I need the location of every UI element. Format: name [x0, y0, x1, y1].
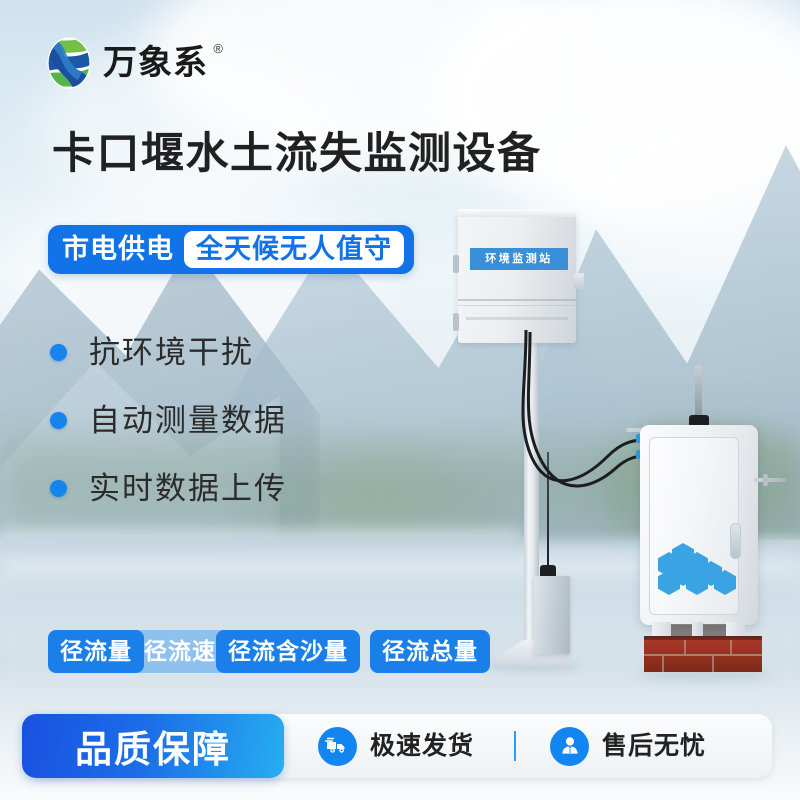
list-item: 抗环境干扰: [50, 318, 287, 386]
station-seam: [458, 305, 576, 306]
service-label: 售后无忧: [602, 734, 706, 759]
delivery-truck-icon: [318, 727, 357, 766]
feature-label: 自动测量数据: [89, 405, 287, 436]
brick-base: [644, 640, 762, 672]
globe-swirl-icon: [44, 36, 94, 90]
page-title: 卡口堰水土流失监测设备: [52, 133, 542, 176]
brand-logo[interactable]: 万象系 ®: [44, 36, 208, 90]
station-name-plate: 环境监测站: [470, 248, 568, 270]
keyword-tag: 径流量: [48, 630, 144, 673]
keyword-tag-group: 径流量 径流速 径流含沙量 径流总量: [48, 630, 490, 673]
station-louver: [466, 317, 568, 320]
feature-list: 抗环境干扰 自动测量数据 实时数据上传: [50, 318, 287, 522]
station-seam: [458, 299, 576, 301]
station-bracket: [453, 313, 459, 331]
customer-support-icon: [550, 727, 589, 766]
control-cabinet: [640, 425, 758, 625]
keyword-tag: 径流总量: [370, 630, 490, 673]
trust-bar: 品质保障 极速发货: [28, 714, 772, 778]
station-body: [458, 213, 576, 343]
station-name-text: 环境监测站: [485, 254, 553, 265]
station-top-cap: [458, 209, 576, 217]
bullet-dot-icon: [50, 480, 67, 497]
keyword-tag-behind: 径流速: [132, 630, 228, 673]
feature-label: 抗环境干扰: [89, 337, 254, 368]
cabinet-antenna-rod: [695, 365, 702, 419]
quality-guarantee-badge: 品质保障: [22, 714, 284, 778]
brand-name: 万象系 ®: [103, 46, 208, 80]
hexagon-decal: [658, 543, 730, 585]
list-item: 实时数据上传: [50, 454, 287, 522]
cabinet-side-arm-tip: [763, 474, 768, 486]
badge-secondary-label: 全天候无人值守: [184, 231, 404, 268]
bullet-dot-icon: [50, 412, 67, 429]
bullet-dot-icon: [50, 344, 67, 361]
vertical-divider: [514, 731, 516, 761]
cabinet-side-arm: [754, 478, 786, 482]
service-after-sales: 售后无忧: [550, 727, 706, 766]
cabinet-door-handle: [730, 523, 741, 559]
keyword-tag: 径流含沙量: [216, 630, 360, 673]
service-fast-shipping: 极速发货: [318, 727, 474, 766]
station-bracket: [453, 255, 459, 273]
product-poster: 环境监测站: [0, 0, 800, 800]
feature-label: 实时数据上传: [89, 473, 287, 504]
list-item: 自动测量数据: [50, 386, 287, 454]
power-badge-group: 市电供电 全天候无人值守: [48, 225, 414, 274]
brand-name-text: 万象系: [103, 44, 208, 82]
badge-primary-label: 市电供电: [62, 236, 184, 263]
environment-monitoring-station: 环境监测站: [458, 213, 576, 343]
cable-line: [528, 332, 646, 486]
station-latch: [574, 273, 584, 289]
service-label: 极速发货: [370, 734, 474, 759]
data-logger-box: [534, 576, 570, 654]
trademark-symbol: ®: [213, 42, 224, 55]
